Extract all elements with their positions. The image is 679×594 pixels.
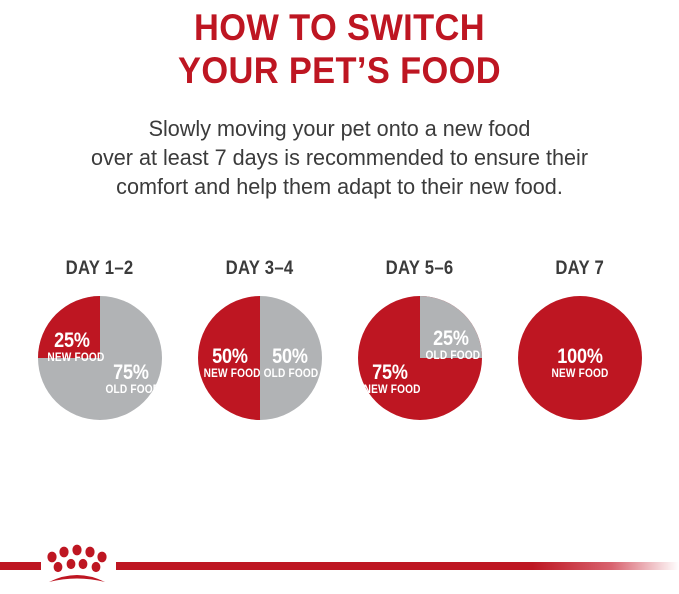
pie-2-old-sub: OLD FOOD xyxy=(263,369,316,381)
pie-cell-day-1-2: DAY 1–2 25% NEW FOOD 75% OLD FOOD xyxy=(20,258,180,420)
pie-chart-1: 25% NEW FOOD 75% OLD FOOD xyxy=(38,296,162,420)
intro-line-2: over at least 7 days is recommended to e… xyxy=(14,143,666,172)
pie-1-new-sub: NEW FOOD xyxy=(47,353,96,365)
pie-cell-day-3-4: DAY 3–4 50% NEW FOOD 50% OLD FOOD xyxy=(180,258,340,420)
pie-3-old-sub: OLD FOOD xyxy=(425,351,476,363)
pie-chart-2: 50% NEW FOOD 50% OLD FOOD xyxy=(198,296,322,420)
pie-2-label-new-food: 50% NEW FOOD xyxy=(200,346,260,381)
footer-rule-left xyxy=(0,562,41,570)
pie-3-label-new-food: 75% NEW FOOD xyxy=(360,362,420,397)
pie-1-label-old-food: 75% OLD FOOD xyxy=(102,362,160,397)
pie-3-new-sub: NEW FOOD xyxy=(363,385,416,397)
pie-1-old-percent: 75% xyxy=(106,362,156,383)
pie-1-new-percent: 25% xyxy=(47,330,95,351)
pie-chart-row: DAY 1–2 25% NEW FOOD 75% OLD FOOD DAY 3–… xyxy=(0,258,679,420)
pie-1-label-new-food: 25% NEW FOOD xyxy=(44,330,100,365)
pie-3-new-percent: 75% xyxy=(364,362,416,383)
intro-paragraph: Slowly moving your pet onto a new food o… xyxy=(0,114,679,201)
footer xyxy=(0,540,679,594)
royal-canin-crown-logo-icon xyxy=(46,544,108,584)
day-label-2: DAY 3–4 xyxy=(226,258,294,280)
pie-4-label-new-food: 100% NEW FOOD xyxy=(540,346,620,381)
day-label-3: DAY 5–6 xyxy=(386,258,454,280)
intro-line-1: Slowly moving your pet onto a new food xyxy=(14,114,666,143)
pie-2-old-percent: 50% xyxy=(264,346,316,367)
footer-rule-right xyxy=(116,562,679,570)
pie-2-new-sub: NEW FOOD xyxy=(203,369,256,381)
pie-3-label-old-food: 25% OLD FOOD xyxy=(422,328,480,363)
pie-4-new-sub: NEW FOOD xyxy=(544,369,614,381)
title-line-1: HOW TO SWITCH xyxy=(24,6,655,49)
day-label-1: DAY 1–2 xyxy=(66,258,134,280)
page-title: HOW TO SWITCH YOUR PET’S FOOD xyxy=(0,0,679,92)
pie-chart-4: 100% NEW FOOD xyxy=(518,296,642,420)
intro-line-3: comfort and help them adapt to their new… xyxy=(14,172,666,201)
pie-2-new-percent: 50% xyxy=(204,346,256,367)
pie-2-label-old-food: 50% OLD FOOD xyxy=(260,346,320,381)
pie-4-new-percent: 100% xyxy=(545,346,614,367)
pie-cell-day-5-6: DAY 5–6 25% OLD FOOD 75% NEW FOOD xyxy=(340,258,500,420)
pie-cell-day-7: DAY 7 100% NEW FOOD xyxy=(500,258,660,420)
pie-1-old-sub: OLD FOOD xyxy=(105,385,156,397)
day-label-4: DAY 7 xyxy=(555,258,604,280)
pie-chart-3: 25% OLD FOOD 75% NEW FOOD xyxy=(358,296,482,420)
pie-3-old-percent: 25% xyxy=(426,328,476,349)
title-line-2: YOUR PET’S FOOD xyxy=(24,49,655,92)
